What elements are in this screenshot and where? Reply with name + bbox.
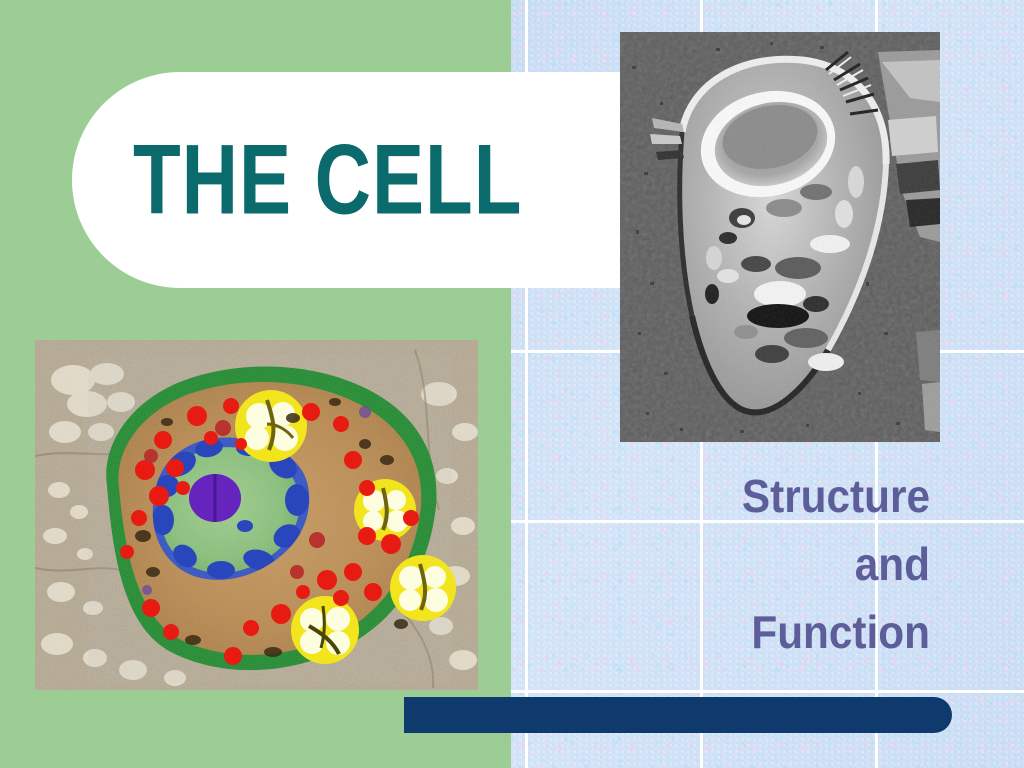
electron-micrograph-image bbox=[620, 32, 940, 442]
subtitle-line-2: and bbox=[626, 530, 930, 598]
subtitle-line-1: Structure bbox=[626, 462, 930, 530]
micrograph-artwork bbox=[620, 32, 940, 442]
gridline-horizontal-3 bbox=[511, 690, 1024, 693]
colorized-cell-diagram-image bbox=[35, 340, 478, 690]
presentation-slide: THE CELL bbox=[0, 0, 1024, 768]
cell-diagram-artwork bbox=[35, 340, 478, 690]
bottom-accent-bar bbox=[404, 697, 952, 733]
subtitle-line-3: Function bbox=[626, 598, 930, 666]
slide-subtitle: Structure and Function bbox=[626, 462, 930, 666]
page-title: THE CELL bbox=[133, 118, 570, 248]
